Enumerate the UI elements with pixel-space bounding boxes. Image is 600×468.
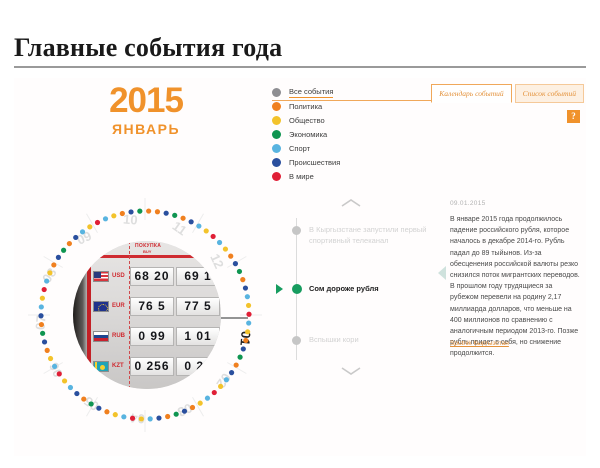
currency-buy-rub: 0 99 xyxy=(130,327,174,346)
legend-label-incidents: Происшествия xyxy=(289,158,340,167)
title-divider xyxy=(14,66,586,68)
dial-event-dot[interactable] xyxy=(189,219,194,224)
dial-event-dot[interactable] xyxy=(233,261,238,266)
currency-sell-usd: 69 1 xyxy=(176,267,220,286)
svg-text:11: 11 xyxy=(170,218,190,238)
legend-item-sport[interactable]: Спорт xyxy=(272,142,392,155)
dial-event-dot[interactable] xyxy=(42,287,47,292)
legend-dot-sport xyxy=(272,144,281,153)
year-label: 2015 xyxy=(86,83,206,118)
legend-label-economy: Экономика xyxy=(289,130,327,139)
currency-row-kzt: KZT 0 256 0 26 xyxy=(89,353,221,379)
timeline-dot-1 xyxy=(292,226,301,235)
dial-event-dot[interactable] xyxy=(245,294,250,299)
tab-calendar-view[interactable]: Календарь событий xyxy=(431,84,511,103)
dial-event-dot[interactable] xyxy=(80,229,85,234)
currency-sell-kzt: 0 26 xyxy=(176,357,220,376)
dial-event-dot[interactable] xyxy=(155,209,160,214)
legend-dot-world xyxy=(272,172,281,181)
legend-dot-society xyxy=(272,116,281,125)
legend-item-society[interactable]: Общество xyxy=(272,114,392,127)
dial-event-dot[interactable] xyxy=(120,211,125,216)
dial-event-dot[interactable] xyxy=(246,320,251,325)
dial-event-dot[interactable] xyxy=(237,269,242,274)
dial-event-dot[interactable] xyxy=(57,371,62,376)
help-button[interactable]: ? xyxy=(567,110,580,123)
legend-item-all[interactable]: Все события xyxy=(272,86,392,99)
dial-event-dot[interactable] xyxy=(48,356,53,361)
dial-event-dot[interactable] xyxy=(211,234,216,239)
event-date: 09.01.2015 xyxy=(450,200,486,207)
svg-text:08: 08 xyxy=(39,265,60,285)
event-timeline: В Кыргызстане запустили первый спортивны… xyxy=(276,198,436,378)
currency-buy-usd: 68 20 xyxy=(130,267,174,286)
dial-event-dot[interactable] xyxy=(130,416,135,421)
timeline-label-1: В Кыргызстане запустили первый спортивны… xyxy=(309,224,434,246)
legend-dot-incidents xyxy=(272,158,281,167)
dial-event-dot[interactable] xyxy=(237,355,242,360)
dial-event-dot[interactable] xyxy=(156,415,161,420)
dial-event-dot[interactable] xyxy=(139,416,144,421)
dial-event-dot[interactable] xyxy=(67,241,72,246)
dial-event-dot[interactable] xyxy=(174,412,179,417)
dial-event-dot[interactable] xyxy=(96,406,101,411)
dial-event-dot[interactable] xyxy=(40,296,45,301)
currency-code-eur: EUR xyxy=(112,303,129,309)
dial-event-dot[interactable] xyxy=(73,235,78,240)
flag-eur-icon xyxy=(93,301,109,312)
dial-event-dot[interactable] xyxy=(81,396,86,401)
dial-event-dot[interactable] xyxy=(246,312,251,317)
timeline-dot-3 xyxy=(292,336,301,345)
month-label: ЯНВАРЬ xyxy=(86,121,206,137)
dial-event-dot[interactable] xyxy=(44,278,49,283)
dial-event-dot[interactable] xyxy=(180,216,185,221)
dial-event-dot[interactable] xyxy=(121,414,126,419)
dial-event-dot[interactable] xyxy=(103,216,108,221)
svg-text:06: 06 xyxy=(46,360,66,379)
currency-buy-kzt: 0 256 xyxy=(130,357,174,376)
dial-event-dot[interactable] xyxy=(182,409,187,414)
dial-center-photo: ПОКУПКА BUY USD 68 20 69 1 EUR 76 5 xyxy=(73,241,221,389)
currency-row-eur: EUR 76 5 77 5 xyxy=(89,293,221,319)
dial-event-dot[interactable] xyxy=(39,304,44,309)
chevron-up-icon[interactable] xyxy=(340,198,362,208)
legend-item-economy[interactable]: Экономика xyxy=(272,128,392,141)
dial-event-dot[interactable] xyxy=(246,303,251,308)
legend-label-society: Общество xyxy=(289,116,325,125)
currency-code-kzt: KZT xyxy=(112,363,129,369)
timeline-label-3: Вспышки кори xyxy=(309,334,434,345)
dial-event-dot[interactable] xyxy=(74,391,79,396)
page-title: Главные события года xyxy=(14,33,282,63)
dial-event-dot[interactable] xyxy=(164,211,169,216)
dial-event-dot[interactable] xyxy=(38,313,43,318)
dial-event-dot[interactable] xyxy=(224,377,229,382)
dial-event-dot[interactable] xyxy=(204,228,209,233)
legend-label-sport: Спорт xyxy=(289,144,310,153)
legend-label-world: В мире xyxy=(289,172,314,181)
dial-event-dot[interactable] xyxy=(245,329,250,334)
legend-label-politics: Политика xyxy=(289,102,322,111)
dial-event-dot[interactable] xyxy=(39,322,44,327)
legend-label-all: Все события xyxy=(289,87,333,98)
dial-event-dot[interactable] xyxy=(51,262,56,267)
dial-event-dot[interactable] xyxy=(87,224,92,229)
dial-event-dot[interactable] xyxy=(243,338,248,343)
month-dial[interactable]: 01 02 03 04 05 06 07 08 09 10 11 12 xyxy=(20,190,270,440)
event-detail-card: 09.01.2015 В январе 2015 года продолжило… xyxy=(438,198,586,378)
currency-buy-eur: 76 5 xyxy=(130,297,174,316)
dial-event-dot[interactable] xyxy=(95,220,100,225)
dial-event-dot[interactable] xyxy=(196,223,201,228)
dial-event-dot[interactable] xyxy=(47,270,52,275)
dial-event-dot[interactable] xyxy=(198,401,203,406)
flag-usd-icon xyxy=(93,271,109,282)
legend-item-politics[interactable]: Политика xyxy=(272,100,392,113)
dial-event-dot[interactable] xyxy=(229,370,234,375)
dial-event-dot[interactable] xyxy=(148,416,153,421)
board-subtitle: BUY xyxy=(143,249,151,254)
tab-list-view[interactable]: Список событий xyxy=(515,84,584,103)
dial-event-dot[interactable] xyxy=(228,254,233,259)
dial-event-dot[interactable] xyxy=(146,208,151,213)
currency-row-rub: RUB 0 99 1 01 xyxy=(89,323,221,349)
legend-item-world[interactable]: В мире xyxy=(272,170,392,183)
dial-event-dot[interactable] xyxy=(52,364,57,369)
dial-event-dot[interactable] xyxy=(45,348,50,353)
dial-event-dot[interactable] xyxy=(104,409,109,414)
dial-event-dot[interactable] xyxy=(111,213,116,218)
dial-event-dot[interactable] xyxy=(190,405,195,410)
page-root: Главные события года 2015 ЯНВАРЬ Все соб… xyxy=(0,0,600,468)
events-calendar-widget: 2015 ЯНВАРЬ Все события Политика Обществ… xyxy=(14,78,586,456)
dial-event-dot[interactable] xyxy=(234,362,239,367)
legend-dot-all xyxy=(272,88,281,97)
dial-event-dot[interactable] xyxy=(240,277,245,282)
legend-item-incidents[interactable]: Происшествия xyxy=(272,156,392,169)
currency-sell-rub: 1 01 xyxy=(176,327,220,346)
year-month-block: 2015 ЯНВАРЬ xyxy=(86,83,206,137)
dial-event-dot[interactable] xyxy=(241,346,246,351)
currency-sell-eur: 77 5 xyxy=(176,297,220,316)
dial-event-dot[interactable] xyxy=(89,401,94,406)
dial-event-dot[interactable] xyxy=(243,285,248,290)
chevron-down-icon[interactable] xyxy=(340,366,362,376)
dial-event-dot[interactable] xyxy=(223,246,228,251)
dial-event-dot[interactable] xyxy=(61,248,66,253)
dial-event-dot[interactable] xyxy=(42,339,47,344)
dial-event-dot[interactable] xyxy=(172,213,177,218)
dial-event-dot[interactable] xyxy=(113,412,118,417)
event-description: В январе 2015 года продолжилось падение … xyxy=(450,214,580,360)
dial-event-dot[interactable] xyxy=(205,396,210,401)
flag-rub-icon xyxy=(93,331,109,342)
dial-event-dot[interactable] xyxy=(165,414,170,419)
dial-event-dot[interactable] xyxy=(56,255,61,260)
flag-kzt-icon xyxy=(93,361,109,372)
legend-dot-politics xyxy=(272,102,281,111)
dial-event-dot[interactable] xyxy=(212,390,217,395)
dial-event-dot[interactable] xyxy=(137,209,142,214)
currency-row-usd: USD 68 20 69 1 xyxy=(89,263,221,289)
currency-code-usd: USD xyxy=(112,273,129,279)
view-tabs: Календарь событий Список событий xyxy=(431,84,584,103)
currency-code-rub: RUB xyxy=(112,333,129,339)
event-source-link[interactable]: Sputnik Кыргызстан xyxy=(450,340,509,347)
legend-dot-economy xyxy=(272,130,281,139)
dial-event-dot[interactable] xyxy=(40,331,45,336)
dial-event-dot[interactable] xyxy=(128,209,133,214)
timeline-dot-2 xyxy=(292,284,302,294)
timeline-label-2: Сом дороже рубля xyxy=(309,283,434,294)
dial-event-dot[interactable] xyxy=(62,378,67,383)
timeline-caret-2 xyxy=(276,284,283,294)
card-pointer-icon xyxy=(438,266,446,280)
